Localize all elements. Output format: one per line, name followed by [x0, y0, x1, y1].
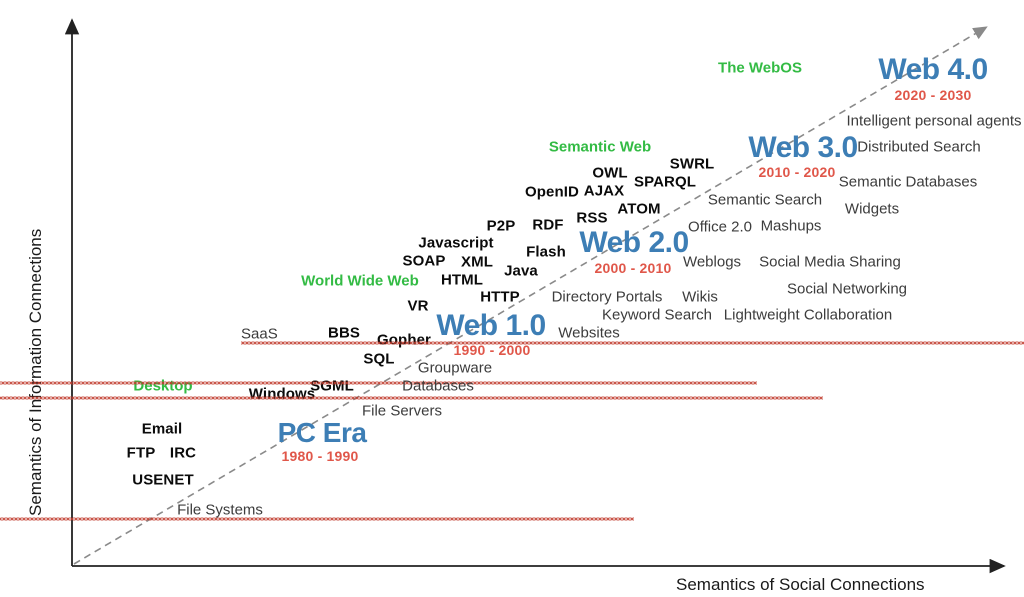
application-label: Widgets [845, 202, 899, 217]
application-label: Social Networking [787, 282, 907, 297]
era-heading: Web 2.0 [579, 228, 688, 258]
era-heading: Web 4.0 [878, 55, 987, 85]
technology-label: OpenID [525, 185, 579, 200]
technology-label: P2P [487, 219, 516, 234]
era-years: 1990 - 2000 [454, 343, 531, 357]
diagram-canvas: Semantics of Information Connections Sem… [0, 0, 1024, 597]
paradigm-label: Semantic Web [549, 140, 651, 155]
x-axis-title: Semantics of Social Connections [676, 575, 925, 595]
application-label: Wikis [682, 290, 718, 305]
technology-label: USENET [132, 473, 193, 488]
application-label: Social Media Sharing [759, 255, 901, 270]
application-label: Groupware [418, 361, 492, 376]
technology-label: Java [504, 264, 538, 279]
paradigm-label: World Wide Web [301, 274, 419, 289]
application-label: SaaS [241, 327, 1024, 342]
technology-label: HTTP [480, 290, 520, 305]
technology-label: Email [142, 422, 183, 437]
technology-label: SWRL [670, 157, 715, 172]
technology-label: RSS [576, 211, 607, 226]
technology-label: Flash [526, 245, 566, 260]
technology-label: MMO's [0, 367, 757, 382]
application-label: Lightweight Collaboration [724, 308, 892, 323]
era-heading: PC Era [278, 419, 367, 447]
technology-label: RDF [532, 218, 563, 233]
application-label: File Systems [177, 503, 263, 518]
application-label: Semantic Search [708, 193, 822, 208]
application-label: File Servers [362, 404, 442, 419]
era-heading: Web 3.0 [748, 133, 857, 163]
technology-label: FTP [127, 446, 156, 461]
application-label: Office 2.0 [688, 220, 752, 235]
technology-label: VR [407, 299, 428, 314]
application-label: Distributed Search [857, 140, 980, 155]
technology-label: OWL [592, 166, 627, 181]
application-label: Weblogs [683, 255, 741, 270]
application-label: Semantic Databases [839, 175, 977, 190]
application-label: Directory Portals [552, 290, 663, 305]
technology-label: HTML [441, 273, 483, 288]
application-label: Mashups [761, 219, 822, 234]
technology-label: XML [461, 255, 493, 270]
technology-label: AJAX [584, 184, 624, 199]
era-years: 2020 - 2030 [895, 88, 972, 102]
technology-label: SQL [363, 352, 394, 367]
application-label: Intelligent personal agents [846, 114, 1021, 129]
technology-label: Javascript [418, 236, 493, 251]
application-label: Databases [402, 379, 474, 394]
era-years: 2000 - 2010 [595, 261, 672, 275]
technology-label: SOAP [403, 254, 446, 269]
era-years: 1980 - 1990 [282, 449, 359, 463]
technology-label: ATOM [617, 202, 660, 217]
era-years: 2010 - 2020 [759, 165, 836, 179]
paradigm-label: The WebOS [718, 61, 802, 76]
technology-label: IRC [170, 446, 196, 461]
technology-label: SPARQL [634, 175, 696, 190]
technology-label: PC's [0, 503, 634, 518]
application-label: Keyword Search [602, 308, 712, 323]
